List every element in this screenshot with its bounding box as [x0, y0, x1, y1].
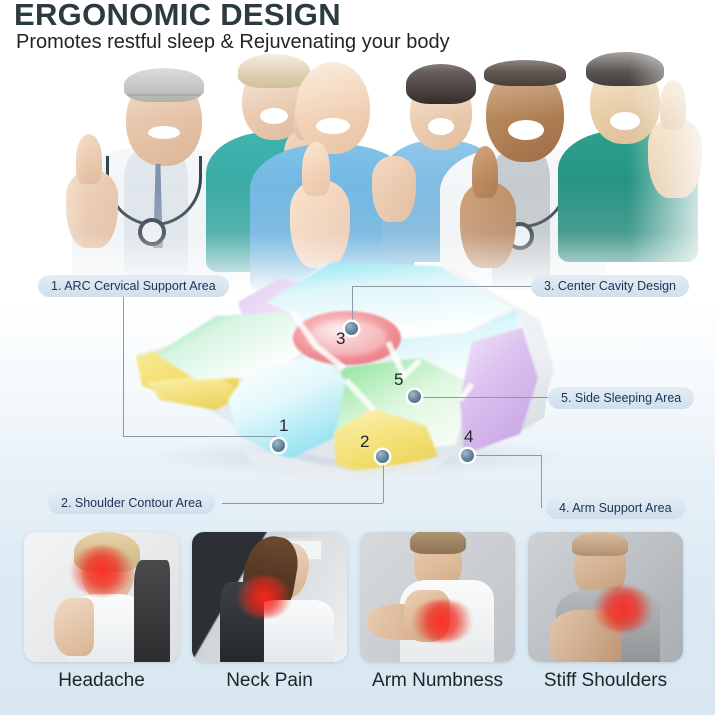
callout-dot-3[interactable] [345, 322, 358, 335]
product-infographic: ERGONOMIC DESIGN Promotes restful sleep … [0, 0, 715, 715]
callout-number-3: 3 [336, 329, 345, 349]
callout-number-4: 4 [464, 427, 473, 447]
pain-highlight-shoulder [592, 586, 654, 632]
doctor-4 [378, 70, 504, 260]
doctor-6 [556, 60, 706, 260]
symptom-card-arm-numbness[interactable] [360, 532, 515, 662]
callout-dot-1[interactable] [272, 439, 285, 452]
callout-line-1-vertical [123, 297, 124, 436]
symptom-caption-stiff-shoulders: Stiff Shoulders [528, 670, 683, 692]
callout-label-3[interactable]: 3. Center Cavity Design [531, 275, 689, 297]
symptom-strip: Headache Neck Pain Arm Numbness [0, 528, 715, 715]
symptom-caption-headache: Headache [24, 670, 179, 692]
callout-line-1-horizontal [123, 436, 277, 437]
symptom-card-neck-pain[interactable] [192, 532, 347, 662]
callout-line-4-horizontal [467, 455, 541, 456]
page-subtitle: Promotes restful sleep & Rejuvenating yo… [16, 31, 450, 54]
symptom-caption-arm-numbness: Arm Numbness [360, 670, 515, 692]
symptom-card-headache[interactable] [24, 532, 179, 662]
page-title: ERGONOMIC DESIGN [14, 0, 341, 33]
doctor-2 [198, 58, 348, 268]
callout-label-1[interactable]: 1. ARC Cervical Support Area [38, 275, 229, 297]
callout-dot-2[interactable] [376, 450, 389, 463]
callout-line-2-horizontal [222, 503, 383, 504]
callout-line-2-vertical [383, 456, 384, 503]
callout-label-4[interactable]: 4. Arm Support Area [546, 497, 685, 519]
symptom-caption-neck-pain: Neck Pain [192, 670, 347, 692]
callout-dot-5[interactable] [408, 390, 421, 403]
symptom-card-stiff-shoulders[interactable] [528, 532, 683, 662]
pain-highlight-neck [236, 576, 292, 618]
callout-label-2[interactable]: 2. Shoulder Contour Area [48, 492, 215, 514]
callout-label-5[interactable]: 5. Side Sleeping Area [548, 387, 694, 409]
callout-dot-4[interactable] [461, 449, 474, 462]
callout-number-5: 5 [394, 370, 403, 390]
callout-line-5-horizontal [414, 397, 550, 398]
pain-highlight-headache [70, 546, 134, 596]
pain-highlight-arm [410, 600, 474, 642]
callout-line-4-vertical [541, 455, 542, 508]
callout-line-3-horizontal [352, 286, 532, 287]
callout-number-1: 1 [279, 416, 288, 436]
callout-number-2: 2 [360, 432, 369, 452]
